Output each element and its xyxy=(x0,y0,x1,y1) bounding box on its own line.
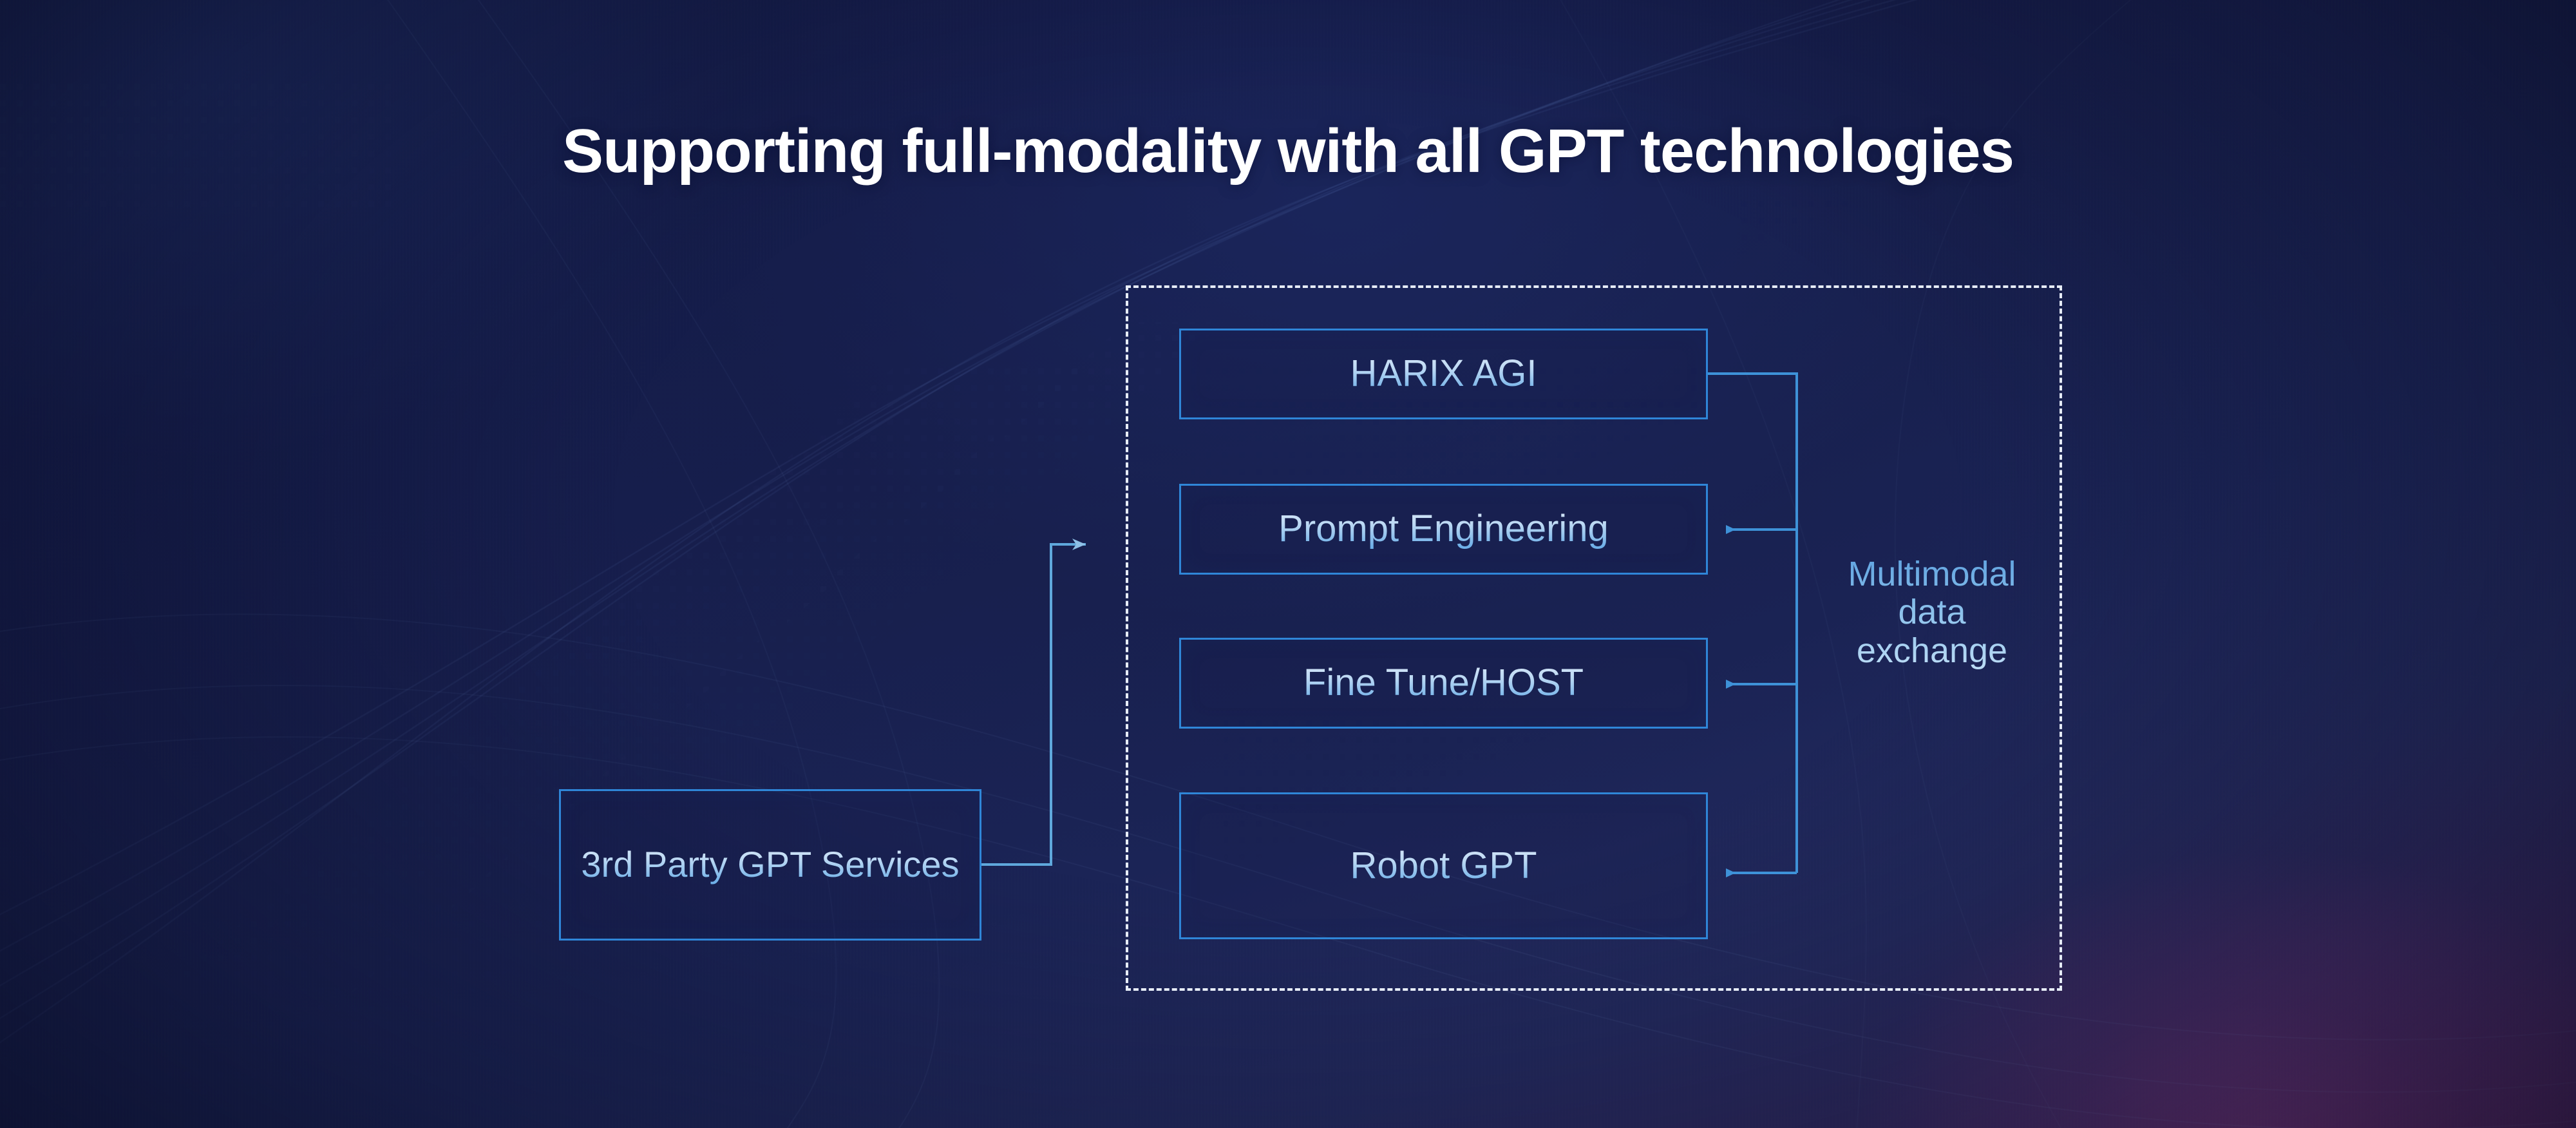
node-harix-agi[interactable]: HARIX AGI xyxy=(1179,329,1708,419)
node-robot-gpt[interactable]: Robot GPT xyxy=(1179,792,1708,939)
exchange-line-1: Multimodal xyxy=(1816,555,2048,593)
node-harix-agi-label: HARIX AGI xyxy=(1338,352,1548,396)
third-party-line-2: Services xyxy=(821,844,960,884)
multimodal-data-exchange-label: Multimodal data exchange xyxy=(1816,555,2048,670)
exchange-line-2: data xyxy=(1816,593,2048,631)
node-third-party-gpt-services-label: 3rd Party GPT Services xyxy=(569,843,971,886)
wire-harix-trunk xyxy=(1708,374,1797,873)
node-fine-tune-host-label: Fine Tune/HOST xyxy=(1292,661,1595,705)
node-fine-tune-host[interactable]: Fine Tune/HOST xyxy=(1179,638,1708,729)
node-prompt-engineering-label: Prompt Engineering xyxy=(1267,507,1620,551)
wire-third-party-to-platform xyxy=(981,544,1086,865)
node-prompt-engineering[interactable]: Prompt Engineering xyxy=(1179,484,1708,575)
node-third-party-gpt-services[interactable]: 3rd Party GPT Services xyxy=(559,789,981,941)
third-party-line-1: 3rd Party GPT xyxy=(581,844,811,884)
architecture-diagram: HARIX AGI Prompt Engineering Fine Tune/H… xyxy=(0,0,2576,1128)
slide-canvas: Supporting full-modality with all GPT te… xyxy=(0,0,2576,1128)
node-robot-gpt-label: Robot GPT xyxy=(1338,844,1548,888)
exchange-line-3: exchange xyxy=(1816,632,2048,670)
